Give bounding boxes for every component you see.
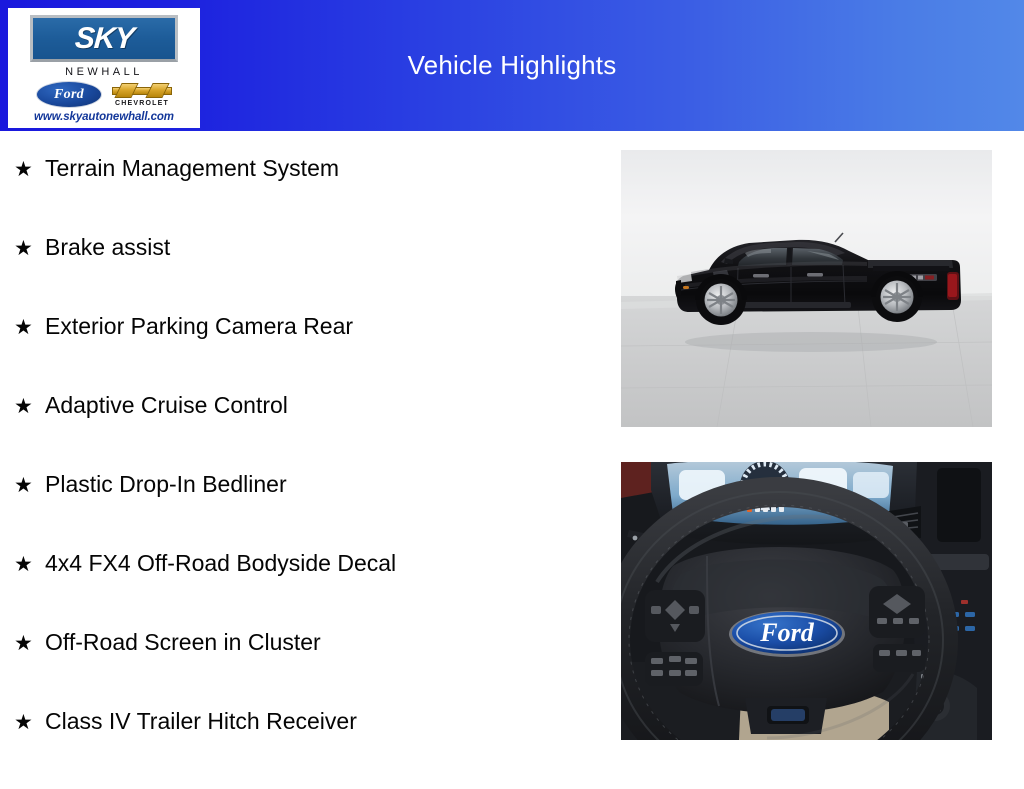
list-item-label: 4x4 FX4 Off-Road Bodyside Decal	[45, 552, 396, 575]
star-icon: ★	[14, 712, 45, 733]
chevrolet-badge: CHEVROLET	[112, 82, 172, 107]
exterior-photo-graphic	[621, 150, 992, 427]
list-item-label: Brake assist	[45, 236, 170, 259]
star-icon: ★	[14, 238, 45, 259]
list-item: ★ Terrain Management System	[0, 157, 600, 236]
list-item-label: Exterior Parking Camera Rear	[45, 315, 353, 338]
list-item: ★ Plastic Drop-In Bedliner	[0, 473, 600, 552]
list-item: ★ Adaptive Cruise Control	[0, 394, 600, 473]
ford-oval-label: Ford	[54, 87, 84, 103]
vehicle-exterior-photo[interactable]	[621, 150, 992, 427]
list-item: ★ Off-Road Screen in Cluster	[0, 631, 600, 710]
vehicle-highlights-list: ★ Terrain Management System ★ Brake assi…	[0, 131, 600, 768]
star-icon: ★	[14, 396, 45, 417]
list-item-label: Class IV Trailer Hitch Receiver	[45, 710, 357, 733]
list-item: ★ 4x4 FX4 Off-Road Bodyside Decal	[0, 552, 600, 631]
vehicle-interior-photo[interactable]: Ford	[621, 462, 992, 740]
list-item: ★ Brake assist	[0, 236, 600, 315]
list-item: ★ Class IV Trailer Hitch Receiver	[0, 710, 600, 789]
list-item-label: Adaptive Cruise Control	[45, 394, 288, 417]
list-item-label: Off-Road Screen in Cluster	[45, 631, 321, 654]
header-bar: Vehicle Highlights SKY NEWHALL Ford CHEV…	[0, 0, 1024, 131]
chevrolet-bowtie-icon	[112, 82, 172, 99]
star-icon: ★	[14, 633, 45, 654]
dealer-logo[interactable]: SKY NEWHALL Ford CHEVROLET www.skyautone…	[8, 8, 200, 128]
sky-logo-text: SKY	[74, 24, 135, 54]
interior-photo-graphic: Ford	[621, 462, 992, 740]
list-item-label: Plastic Drop-In Bedliner	[45, 473, 287, 496]
chevrolet-label: CHEVROLET	[115, 100, 169, 107]
ford-oval-icon: Ford	[36, 81, 102, 108]
svg-text:Ford: Ford	[759, 618, 814, 647]
star-icon: ★	[14, 159, 45, 180]
dealer-website-url[interactable]: www.skyautonewhall.com	[34, 111, 174, 123]
dealer-location-text: NEWHALL	[65, 66, 143, 78]
star-icon: ★	[14, 317, 45, 338]
sky-logo-plate: SKY	[30, 15, 178, 62]
list-item: ★ Exterior Parking Camera Rear	[0, 315, 600, 394]
page-title-text: Vehicle Highlights	[408, 50, 617, 81]
star-icon: ★	[14, 475, 45, 496]
list-item-label: Terrain Management System	[45, 157, 339, 180]
oem-brand-row: Ford CHEVROLET	[14, 81, 194, 108]
star-icon: ★	[14, 554, 45, 575]
